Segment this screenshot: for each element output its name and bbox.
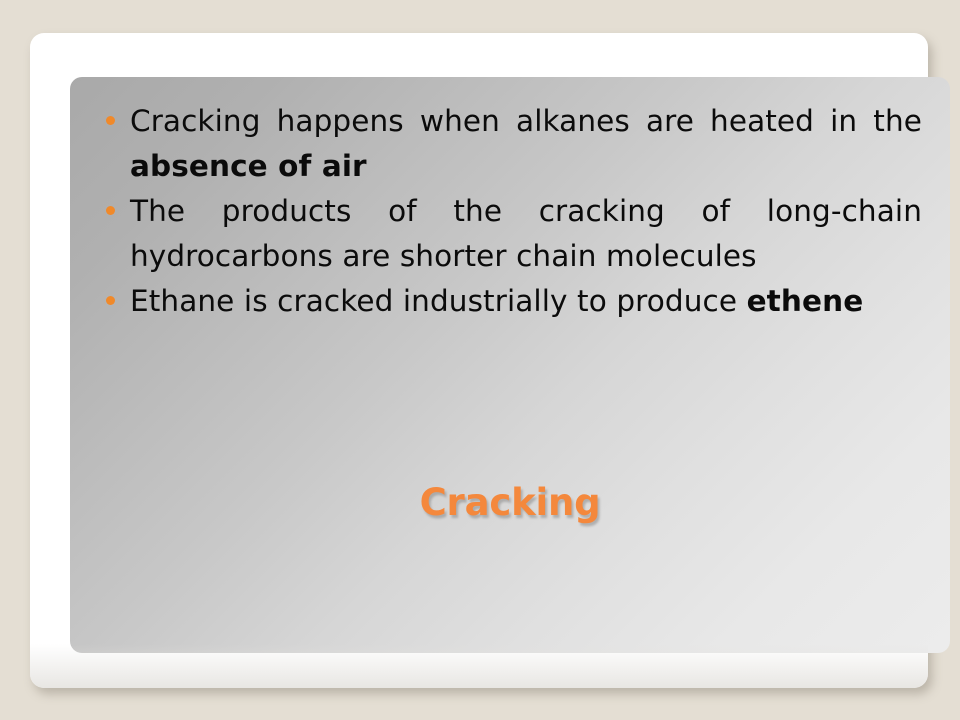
bullet-dot-icon [106,296,115,305]
slide-heading: Cracking [70,481,950,524]
list-item: Cracking happens when alkanes are heated… [106,99,922,189]
bullet-text-normal: Ethane is cracked industrially to produc… [130,284,747,318]
bullet-text-normal: The products of the cracking of long-cha… [130,194,922,273]
bullet-text-bold: ethene [747,284,864,318]
bullet-text-normal: Cracking happens when alkanes are heated… [130,104,922,138]
slide-content-panel: Cracking happens when alkanes are heated… [70,77,950,653]
bullet-dot-icon [106,206,115,215]
bullet-list: Cracking happens when alkanes are heated… [106,99,922,324]
slide-frame: Cracking happens when alkanes are heated… [30,33,928,688]
bullet-dot-icon [106,116,115,125]
slide-root: Cracking happens when alkanes are heated… [0,0,960,720]
bullet-text-bold: absence of air [130,149,367,183]
list-item: Ethane is cracked industrially to produc… [106,279,922,324]
list-item: The products of the cracking of long-cha… [106,189,922,279]
